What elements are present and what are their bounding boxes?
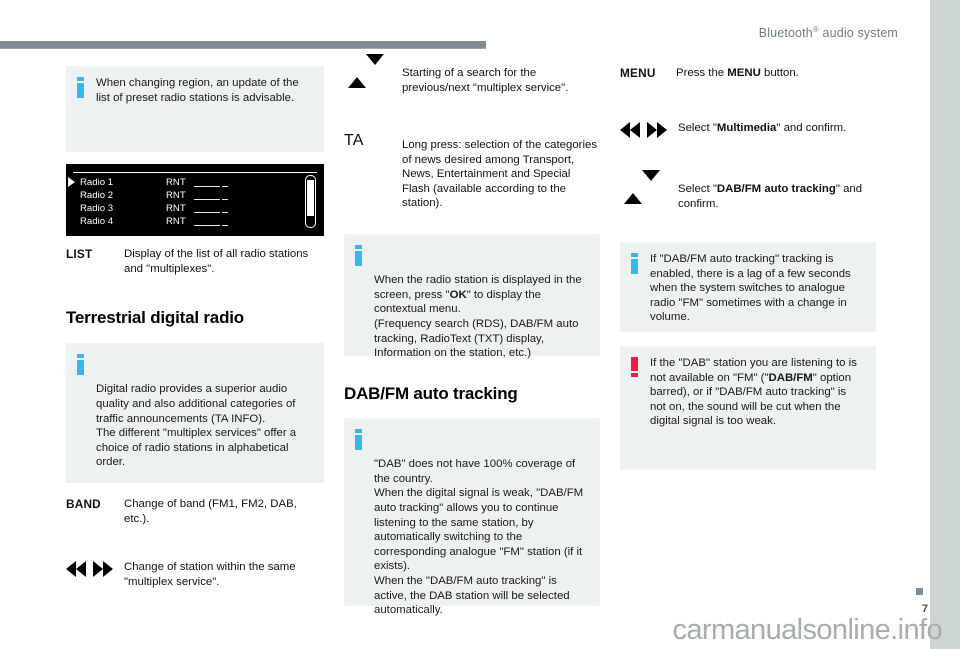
display-row: Radio 1 RNT [80,176,294,189]
note-region-update: When changing region, an update of the l… [66,66,324,152]
station-code: RNT [166,216,194,227]
note-digital-radio: Digital radio provides a superior audio … [66,343,324,483]
select-dab-fm-description: Select "DAB/FM auto tracking" and confir… [678,183,862,210]
arrow-down-icon[interactable] [642,170,660,193]
column-middle: Starting of a search for the previous/ne… [344,66,600,606]
select-dab-fm-bold: DAB/FM auto tracking [717,183,836,195]
page-marker-square [916,588,923,595]
row-menu-button: MENU Press the MENU button. [620,66,876,88]
info-icon [355,429,362,450]
header-rule [0,41,486,49]
display-row: Radio 2 RNT [80,189,294,202]
display-rows: Radio 1 RNT Radio 2 RNT Radio 3 RNT Radi… [80,176,294,228]
display-row: Radio 3 RNT [80,202,294,215]
select-multimedia-part2: " and confirm. [776,122,846,134]
menu-desc-bold: MENU [727,67,761,79]
station-name: Radio 2 [80,190,166,201]
scrollbar-thumb[interactable] [307,180,314,216]
menu-button-label[interactable]: MENU [620,66,672,81]
menu-desc-part1: Press the [676,67,727,79]
list-button-description: Display of the list of all radio station… [124,248,308,275]
display-row: Radio 4 RNT [80,215,294,228]
row-seek-station: Change of station within the same "multi… [66,560,324,590]
station-name: Radio 3 [80,203,166,214]
row-select-multimedia: Select "Multimedia" and confirm. [620,121,876,151]
band-button-description: Change of band (FM1, FM2, DAB, etc.). [124,498,297,525]
ta-button-label[interactable]: TA [344,134,398,149]
select-multimedia-description: Select "Multimedia" and confirm. [678,122,846,134]
note-tracking-lag: If "DAB/FM auto tracking" tracking is en… [620,242,876,332]
note-tracking-lag-text: If "DAB/FM auto tracking" tracking is en… [650,253,851,323]
column-right: MENU Press the MENU button. Select "Mult… [620,66,876,470]
info-icon [631,253,638,274]
info-icon [77,354,84,375]
info-icon [77,77,84,98]
watermark: carmanualsonline.info [672,614,942,647]
signal-bars-icon [194,208,228,209]
radio-list-display: Radio 1 RNT Radio 2 RNT Radio 3 RNT Radi… [66,164,324,236]
row-band-button: BAND Change of band (FM1, FM2, DAB, etc.… [66,497,324,526]
menu-button-description: Press the MENU button. [676,67,799,79]
header-title-main: Bluetooth [759,26,813,40]
seek-prev-next-icon[interactable] [66,561,122,577]
select-multimedia-part1: Select " [678,122,717,134]
display-scrollbar[interactable] [305,175,316,228]
warning-icon [631,357,638,377]
station-code: RNT [166,203,194,214]
menu-desc-part2: button. [761,67,799,79]
note-ok-bold: OK [450,289,467,301]
up-down-arrows-icon[interactable] [348,64,374,79]
seek-prev-next-icon[interactable] [620,122,676,138]
note-ok-contextual-menu: When the radio station is displayed in t… [344,234,600,356]
page-edge-strip [930,0,960,649]
select-dab-fm-part1: Select " [678,183,717,195]
signal-bars-icon [194,221,228,222]
list-button-label[interactable]: LIST [66,247,120,262]
row-select-dab-fm: Select "DAB/FM auto tracking" and confir… [620,182,876,228]
seek-station-description: Change of station within the same "multi… [124,561,296,588]
note-dab-coverage-text: "DAB" does not have 100% coverage of the… [374,458,583,616]
signal-bars-icon [194,182,228,183]
band-button-label[interactable]: BAND [66,497,120,512]
warning-dab-unavailable: If the "DAB" station you are listening t… [620,346,876,470]
display-divider [73,172,317,173]
note-dab-coverage: "DAB" does not have 100% coverage of the… [344,418,600,606]
station-name: Radio 1 [80,177,166,188]
play-pointer-icon [68,177,75,187]
station-name: Radio 4 [80,216,166,227]
header-title-rest: audio system [819,26,898,40]
arrow-up-icon[interactable] [348,65,366,88]
page-title: Terrestrial digital radio [66,308,324,328]
manual-page: Bluetooth® audio system When changing re… [0,0,960,649]
multiplex-search-description: Starting of a search for the previous/ne… [402,67,568,94]
info-icon [355,245,362,266]
station-code: RNT [166,190,194,201]
ta-button-description: Long press: selection of the categories … [402,139,597,209]
row-ta-button: TA Long press: selection of the categori… [344,138,600,228]
up-down-arrows-icon[interactable] [624,180,650,195]
arrow-up-icon[interactable] [624,181,642,204]
signal-bars-icon [194,195,228,196]
note-region-update-text: When changing region, an update of the l… [96,77,299,104]
station-code: RNT [166,177,194,188]
row-list-button: LIST Display of the list of all radio st… [66,247,324,276]
header-title: Bluetooth® audio system [759,25,898,40]
section-title-dab-fm: DAB/FM auto tracking [344,384,600,404]
warning-bold: DAB/FM [769,372,813,384]
column-left: When changing region, an update of the l… [66,66,324,590]
note-digital-radio-text: Digital radio provides a superior audio … [96,383,296,468]
arrow-down-icon[interactable] [366,54,384,77]
select-multimedia-bold: Multimedia [717,122,777,134]
row-multiplex-search: Starting of a search for the previous/ne… [344,66,600,110]
